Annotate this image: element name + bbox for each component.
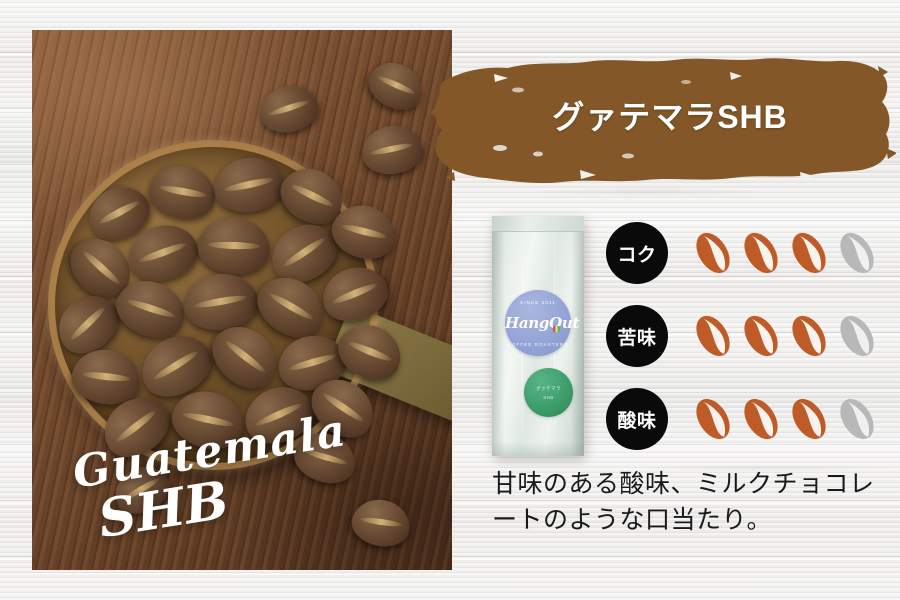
bag-top-seal <box>492 216 584 232</box>
sticker-line-1: グァテマラ <box>524 386 573 392</box>
sticker-line-2: SHB <box>524 395 573 400</box>
rating-label-nigami: 苦味 <box>606 305 668 367</box>
bag-left-shading <box>492 216 505 456</box>
logo-roasters-text: COFFEE ROASTERS <box>505 342 571 347</box>
logo-since-text: SINCE 2011 <box>505 300 571 305</box>
logo-flag-icon <box>553 326 560 332</box>
rating-bean-empty <box>832 394 882 444</box>
page-title: グァテマラSHB <box>430 92 896 138</box>
title-banner: グァテマラSHB <box>430 52 896 192</box>
rating-bean-filled <box>736 394 786 444</box>
rating-label-sanmi: 酸味 <box>606 388 668 450</box>
rating-bean-empty <box>832 228 882 278</box>
rating-bean-filled <box>736 311 786 361</box>
rating-bean-filled <box>688 394 738 444</box>
rating-bean-filled <box>736 228 786 278</box>
bag-right-shading <box>571 216 584 456</box>
brand-logo: SINCE 2011 HangOut COFFEE ROASTERS <box>505 290 571 356</box>
rating-label-koku: コク <box>606 222 668 284</box>
bag-variety-sticker: グァテマラ SHB <box>524 368 573 417</box>
logo-brand-name: HangOut <box>505 314 571 332</box>
rating-bean-filled <box>688 228 738 278</box>
rating-bean-filled <box>784 311 834 361</box>
coffee-bag-package: SINCE 2011 HangOut COFFEE ROASTERS グァテマラ… <box>492 216 584 456</box>
bag-bottom-shading <box>492 442 584 456</box>
rating-bean-filled <box>688 311 738 361</box>
product-description: 甘味のある酸味、ミルクチョコレートのような口当たり。 <box>492 466 892 537</box>
rating-bean-filled <box>784 394 834 444</box>
rating-bean-filled <box>784 228 834 278</box>
rating-bean-empty <box>832 311 882 361</box>
product-photo: Guatemala SHB <box>32 30 452 570</box>
